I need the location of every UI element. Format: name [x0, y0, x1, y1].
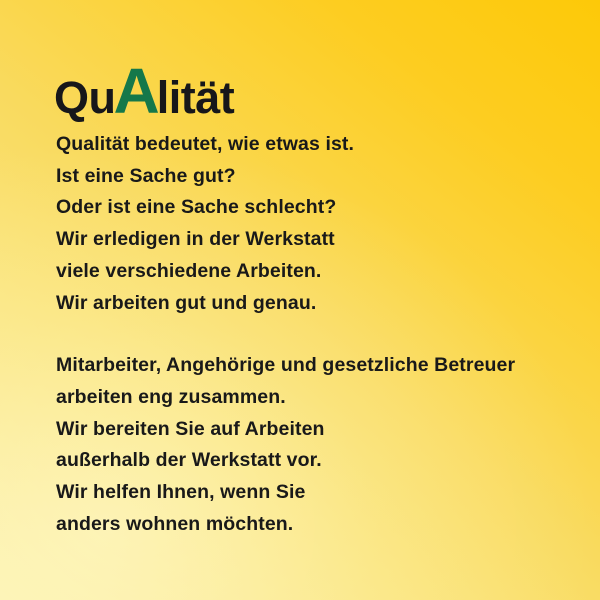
text-line: Wir erledigen in der Werkstatt — [56, 224, 576, 256]
text-line: viele verschiedene Arbeiten. — [56, 256, 576, 288]
paragraph-2: Mitarbeiter, Angehörige und gesetzliche … — [56, 350, 576, 540]
page-title-accent-letter: A — [114, 55, 158, 127]
text-line: Mitarbeiter, Angehörige und gesetzliche … — [56, 350, 576, 382]
poster-canvas: QuAlität Qualität bedeutet, wie etwas is… — [0, 0, 600, 600]
body-copy: Qualität bedeutet, wie etwas ist. Ist ei… — [56, 129, 576, 540]
text-line: Qualität bedeutet, wie etwas ist. — [56, 129, 576, 161]
text-line: Ist eine Sache gut? — [56, 161, 576, 193]
page-title-prefix: Qu — [54, 72, 116, 123]
paragraph-1: Qualität bedeutet, wie etwas ist. Ist ei… — [56, 129, 576, 319]
text-line: anders wohnen möchten. — [56, 509, 576, 541]
page-title: QuAlität — [54, 59, 234, 123]
text-line: außerhalb der Werkstatt vor. — [56, 445, 576, 477]
text-line: arbeiten eng zusammen. — [56, 382, 576, 414]
text-line: Wir bereiten Sie auf Arbeiten — [56, 414, 576, 446]
text-line: Wir helfen Ihnen, wenn Sie — [56, 477, 576, 509]
text-line: Wir arbeiten gut und genau. — [56, 288, 576, 320]
text-line: Oder ist eine Sache schlecht? — [56, 192, 576, 224]
page-title-suffix: lität — [157, 72, 235, 123]
